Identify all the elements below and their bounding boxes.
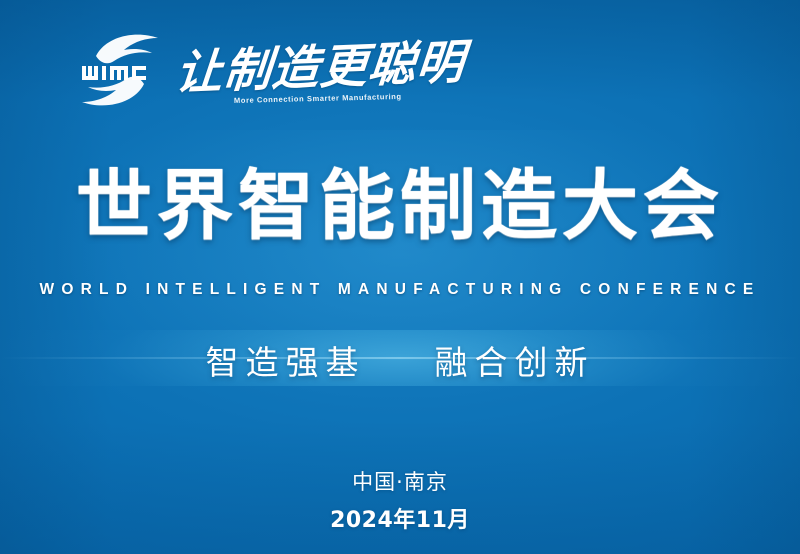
date-label: 2024年11月: [0, 502, 800, 534]
conference-poster: 让制造更聪明 More Connection Smarter Manufactu…: [0, 0, 800, 554]
venue-label: 中国·南京: [0, 466, 800, 496]
wimc-swoosh-logo-icon: [72, 26, 168, 114]
slogan-part-2: 融合创新: [435, 343, 595, 382]
page-title-en: WORLD INTELLIGENT MANUFACTURING CONFEREN…: [0, 281, 800, 299]
page-title-cn: 世界智能制造大会: [0, 168, 800, 244]
slogan-part-1: 智造强基: [206, 343, 366, 382]
brand-calligraphy: 让制造更聪明 More Connection Smarter Manufactu…: [176, 30, 432, 116]
logo-lockup: 让制造更聪明 More Connection Smarter Manufactu…: [72, 24, 432, 116]
slogan: 智造强基 融合创新: [0, 336, 800, 384]
brand-calligraphy-cn: 让制造更聪明: [173, 23, 468, 103]
